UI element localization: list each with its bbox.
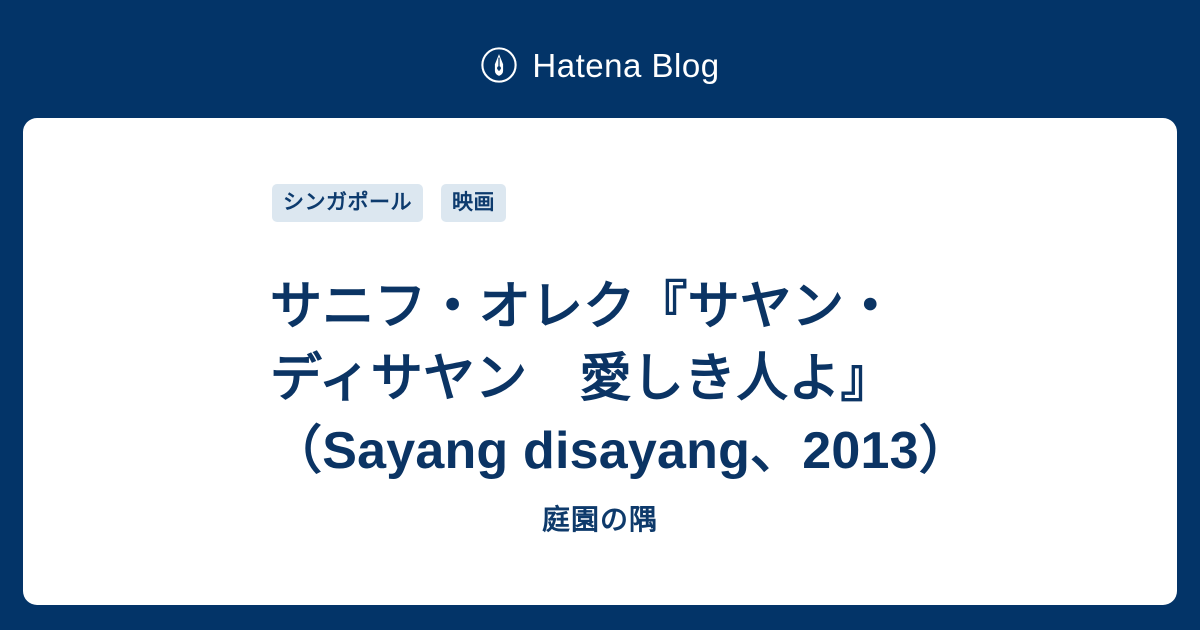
entry-title-line-1: サニフ・オレク『サヤン・ [270, 271, 1130, 343]
entry-card: シンガポール 映画 サニフ・オレク『サヤン・ ディサヤン 愛しき人よ』 （Say… [23, 118, 1177, 605]
hatena-blog-brand-label: Hatena Blog [532, 49, 719, 82]
entry-title: サニフ・オレク『サヤン・ ディサヤン 愛しき人よ』 （Sayang disaya… [270, 271, 1130, 487]
og-image-canvas: Hatena Blog シンガポール 映画 サニフ・オレク『サヤン・ ディサヤン… [0, 0, 1200, 630]
entry-title-line-2: ディサヤン 愛しき人よ』 [270, 343, 1130, 415]
entry-title-line-3: （Sayang disayang、2013） [270, 415, 1130, 487]
tag-list: シンガポール 映画 [272, 184, 506, 222]
tag-chip-movie[interactable]: 映画 [441, 184, 506, 222]
hatena-blog-brand: Hatena Blog [0, 36, 1200, 94]
tag-chip-singapore[interactable]: シンガポール [272, 184, 423, 222]
entry-card-inner: シンガポール 映画 サニフ・オレク『サヤン・ ディサヤン 愛しき人よ』 （Say… [23, 118, 1177, 605]
blog-name: 庭園の隅 [23, 506, 1177, 534]
hatena-pen-nib-icon [480, 46, 518, 84]
